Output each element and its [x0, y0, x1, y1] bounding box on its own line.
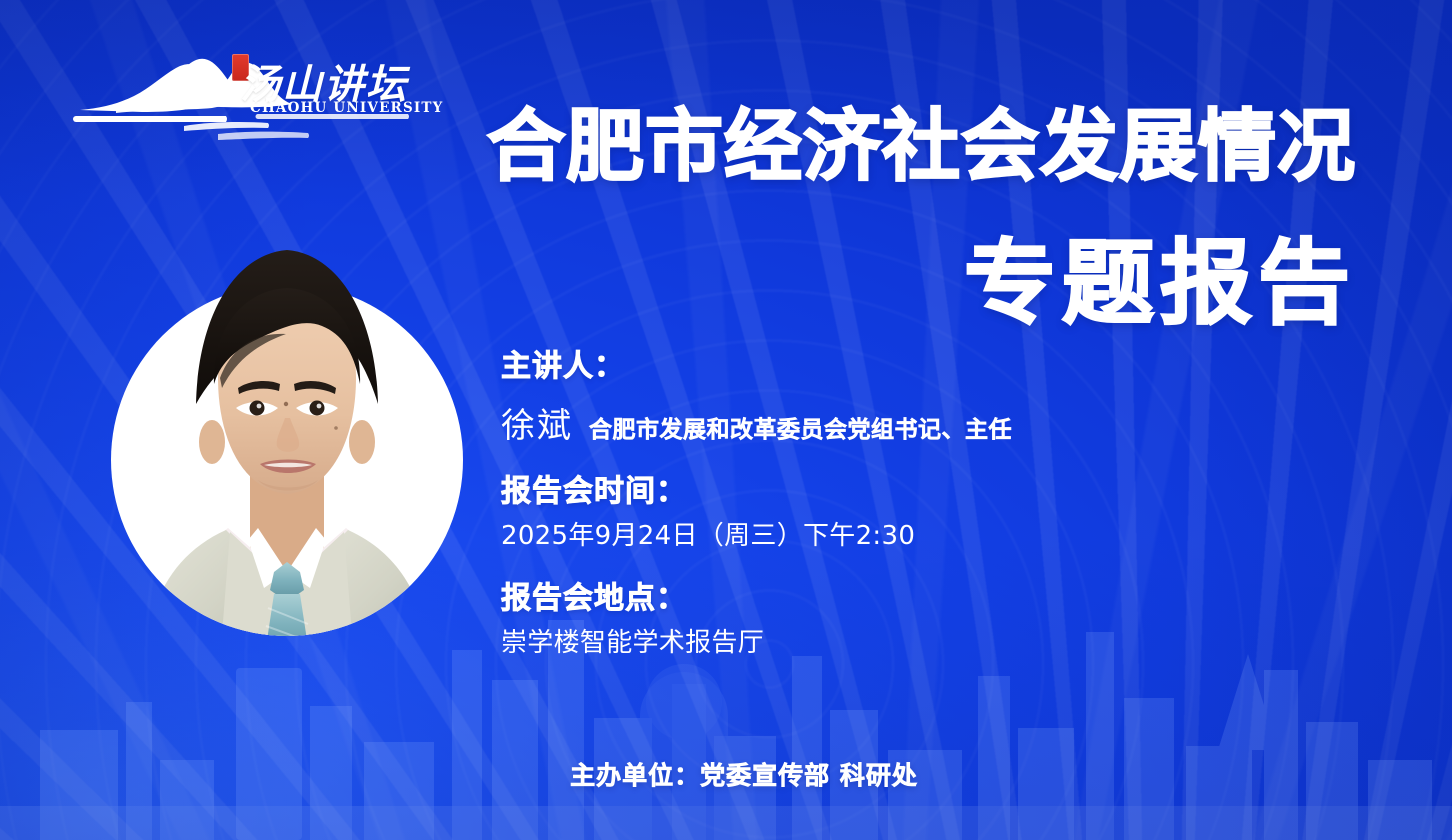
chaohu-university-logo: 汤山讲坛 CHAOHU UNIVERSITY	[72, 52, 422, 144]
event-details: 主讲人： 徐斌 合肥市发展和改革委员会党组书记、主任 报告会时间： 2025年9…	[501, 348, 1221, 661]
event-poster: 汤山讲坛 CHAOHU UNIVERSITY 合肥市经济社会发展情况 专题报告	[0, 0, 1452, 840]
title-line-1: 合肥市经济社会发展情况	[426, 108, 1356, 186]
place-label: 报告会地点：	[501, 580, 1221, 618]
speaker-row: 徐斌 合肥市发展和改革委员会党组书记、主任	[501, 398, 1221, 447]
speaker-name: 徐斌	[501, 398, 573, 447]
organizer-text: 主办单位：党委宣传部 科研处	[570, 756, 918, 792]
poster-footer: 主办单位：党委宣传部 科研处	[0, 756, 1452, 792]
time-label: 报告会时间：	[501, 473, 1221, 511]
logo-name-en: CHAOHU UNIVERSITY	[250, 100, 444, 116]
speaker-portrait	[108, 228, 466, 660]
speaker-label: 主讲人：	[501, 348, 1221, 386]
speaker-title: 合肥市发展和改革委员会党组书记、主任	[589, 410, 1012, 444]
place-value: 崇学楼智能学术报告厅	[501, 627, 1221, 661]
title-line-2: 专题报告	[426, 238, 1356, 330]
time-value: 2025年9月24日（周三）下午2:30	[501, 520, 1221, 554]
poster-title: 合肥市经济社会发展情况 专题报告	[426, 108, 1356, 330]
